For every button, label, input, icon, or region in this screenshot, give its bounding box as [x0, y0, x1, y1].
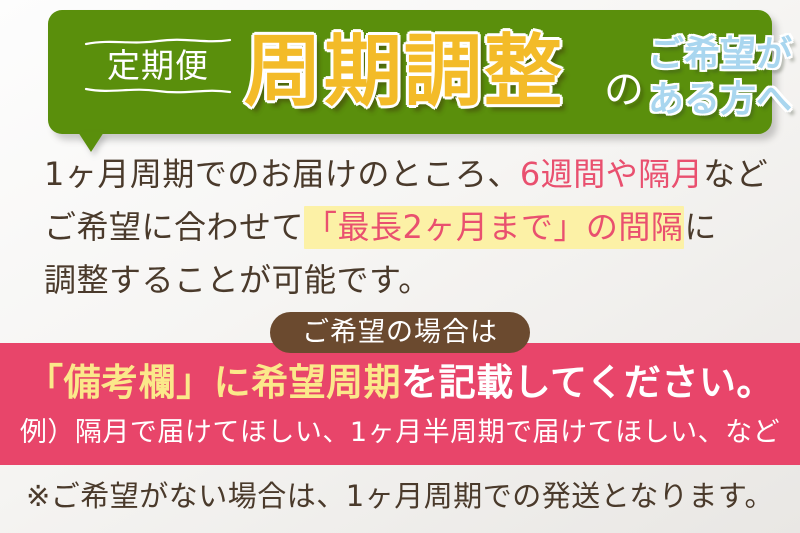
headline-sub: ご希望が ある方へ: [648, 32, 800, 122]
callout-band: 「備考欄」に希望周期を記載してください。 例）隔月で届けてほしい、1ヶ月半周期で…: [0, 343, 800, 465]
body-copy: 1ヶ月周期でのお届けのところ、6週間や隔月など ご希望に合わせて「最長2ヶ月まで…: [44, 148, 774, 307]
body-line1-part-a: 1ヶ月周期でのお届けのところ、: [44, 155, 520, 193]
footnote: ※ご希望がない場合は、1ヶ月周期での発送となります。: [0, 476, 800, 516]
headline-sub-line-1: ご希望が: [648, 32, 800, 77]
headline-particle: の: [604, 66, 644, 114]
body-line2-part-c: に: [684, 208, 717, 246]
header-panel: 定期便 周期調整 の ご希望が ある方へ: [48, 10, 772, 134]
promo-banner: 定期便 周期調整 の ご希望が ある方へ 1ヶ月周期でのお届けのところ、6週間や…: [0, 0, 800, 533]
wave-rule-bottom-icon: [84, 86, 232, 94]
body-line1-accent: 6週間や隔月: [520, 155, 703, 193]
header-panel-inner: 定期便 周期調整 の ご希望が ある方へ: [48, 10, 772, 134]
callout-pill: ご希望の場合は: [270, 312, 530, 353]
body-copy-line-1: 1ヶ月周期でのお届けのところ、6週間や隔月など: [44, 148, 774, 201]
body-copy-line-2: ご希望に合わせて「最長2ヶ月まで」の間隔に: [44, 201, 774, 254]
wave-rule-top-icon: [84, 38, 232, 46]
callout-pill-label: ご希望の場合は: [302, 318, 498, 348]
callout-headline-white: を記載してください。: [401, 361, 774, 404]
callout-headline-yellow: 「備考欄」に希望周期: [26, 361, 401, 404]
callout-example: 例）隔月で届けてほしい、1ヶ月半周期で届けてほしい、など: [0, 415, 800, 451]
callout-headline: 「備考欄」に希望周期を記載してください。: [0, 359, 800, 407]
body-line2-highlight: 「最長2ヶ月まで」の間隔: [304, 206, 684, 249]
body-line1-part-c: など: [703, 155, 768, 193]
headline-sub-line-2: ある方へ: [648, 77, 800, 122]
subscription-badge: 定期便: [84, 38, 232, 94]
headline-main: 周期調整: [244, 24, 564, 120]
subscription-badge-label: 定期便: [84, 46, 232, 86]
body-copy-line-3: 調整することが可能です。: [44, 254, 774, 307]
body-line2-part-a: ご希望に合わせて: [44, 208, 304, 246]
